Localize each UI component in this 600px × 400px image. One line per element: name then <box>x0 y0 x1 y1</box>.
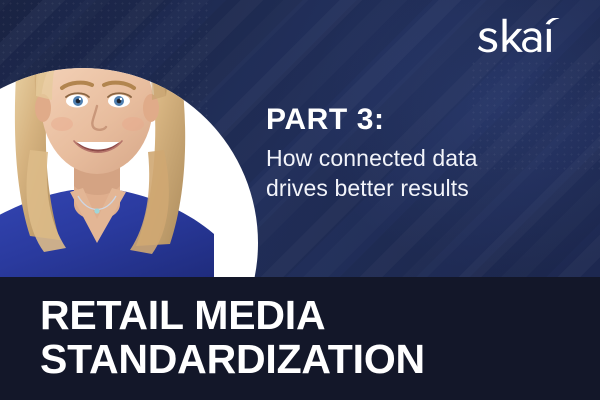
subtitle-line-1: How connected data <box>266 143 576 173</box>
headline-copy: PART 3: How connected data drives better… <box>266 104 576 203</box>
skai-logo[interactable] <box>474 18 572 64</box>
bottom-title-bar: RETAIL MEDIA STANDARDIZATION <box>0 277 600 400</box>
subtitle-line-2: drives better results <box>266 173 576 203</box>
presenter-portrait <box>0 0 262 277</box>
banner-title: RETAIL MEDIA STANDARDIZATION <box>40 294 425 382</box>
part-label: PART 3: <box>266 104 576 136</box>
promo-banner: PART 3: How connected data drives better… <box>0 0 600 400</box>
